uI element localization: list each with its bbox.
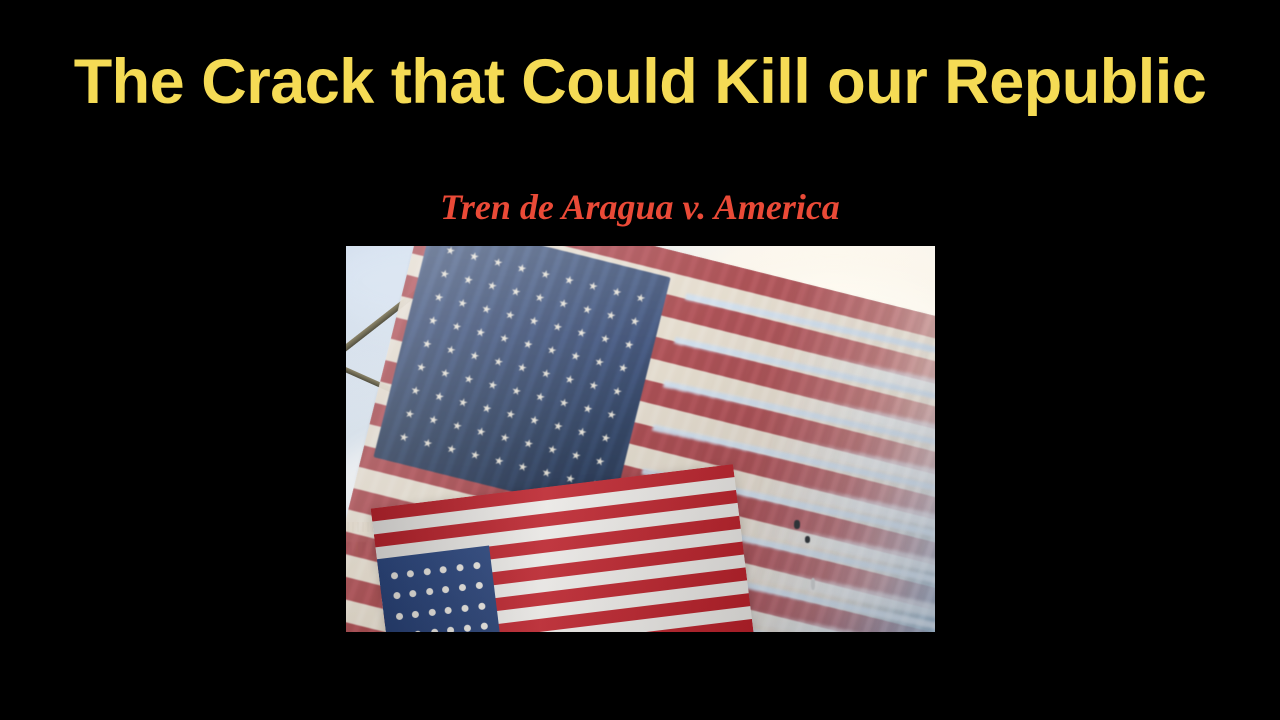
page-subtitle: Tren de Aragua v. America <box>0 186 1280 228</box>
slide-canvas: The Crack that Could Kill our Republic T… <box>0 0 1280 720</box>
flag-photo <box>346 246 935 632</box>
flag-photo-content <box>346 246 935 632</box>
flag-clip-hardware <box>794 520 800 529</box>
page-title: The Crack that Could Kill our Republic <box>0 48 1280 116</box>
flag-clip-hardware <box>805 536 810 543</box>
